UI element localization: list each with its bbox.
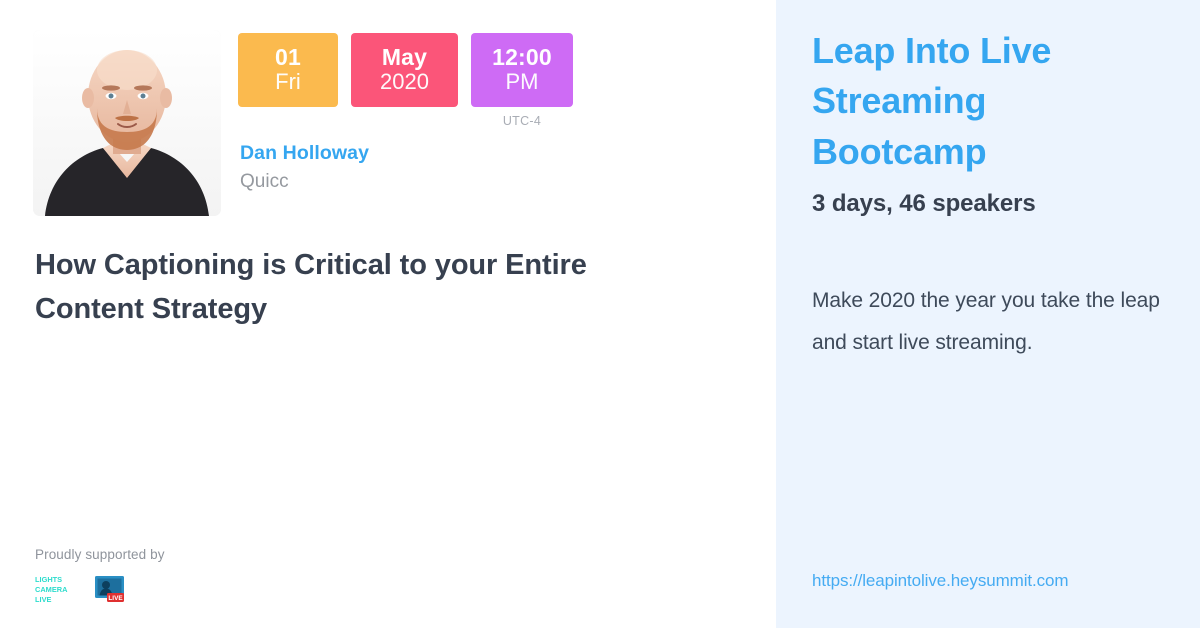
speaker-headshot-image: [33, 30, 221, 216]
speaker-block: Dan Holloway Quicc: [240, 142, 573, 193]
logo-line-1: LIGHTS: [35, 575, 62, 584]
date-day-group: 01 Fri: [238, 33, 338, 107]
lights-camera-live-logo[interactable]: LIGHTS CAMERA LIVE: [35, 574, 69, 604]
summit-subtitle: 3 days, 46 speakers: [812, 190, 1170, 218]
month-name: May: [382, 46, 427, 70]
summit-url-link[interactable]: https://leapintolive.heysummit.com: [812, 571, 1068, 591]
speaker-organization: Quicc: [240, 171, 573, 193]
page-title: How Captioning is Critical to your Entir…: [35, 243, 655, 331]
sponsors-label: Proudly supported by: [35, 547, 165, 562]
time-meridiem: PM: [506, 71, 539, 94]
speaker-name[interactable]: Dan Holloway: [240, 142, 573, 165]
summit-panel: Leap Into Live Streaming Bootcamp 3 days…: [776, 0, 1200, 628]
live-card-logo[interactable]: LIVE: [93, 573, 127, 605]
sponsors: Proudly supported by LIGHTS CAMERA LIVE …: [35, 547, 165, 606]
day-name: Fri: [275, 71, 301, 94]
day-number: 01: [275, 46, 301, 70]
time-value: 12:00: [492, 46, 552, 70]
timezone-label: UTC-4: [503, 114, 541, 128]
date-day-box: 01 Fri: [238, 33, 338, 107]
time-group: 12:00 PM UTC-4: [471, 33, 573, 128]
talk-meta: 01 Fri May 2020 12:00 PM: [238, 30, 573, 193]
date-month-group: May 2020: [351, 33, 458, 107]
time-box: 12:00 PM: [471, 33, 573, 107]
datetime-row: 01 Fri May 2020 12:00 PM: [238, 33, 573, 128]
sponsor-logo-list: LIGHTS CAMERA LIVE LIVE: [35, 572, 165, 606]
live-badge-label: LIVE: [108, 595, 123, 602]
event-promo-card: 01 Fri May 2020 12:00 PM: [0, 0, 1200, 628]
year-number: 2020: [380, 71, 429, 94]
summit-description: Make 2020 the year you take the leap and…: [812, 280, 1170, 364]
talk-header: 01 Fri May 2020 12:00 PM: [33, 30, 573, 216]
talk-panel: 01 Fri May 2020 12:00 PM: [0, 0, 776, 628]
summit-title: Leap Into Live Streaming Bootcamp: [812, 26, 1170, 177]
logo-line-2: CAMERA: [35, 585, 68, 594]
logo-line-3: LIVE: [35, 595, 51, 604]
date-month-box: May 2020: [351, 33, 458, 107]
avatar: [33, 30, 221, 216]
